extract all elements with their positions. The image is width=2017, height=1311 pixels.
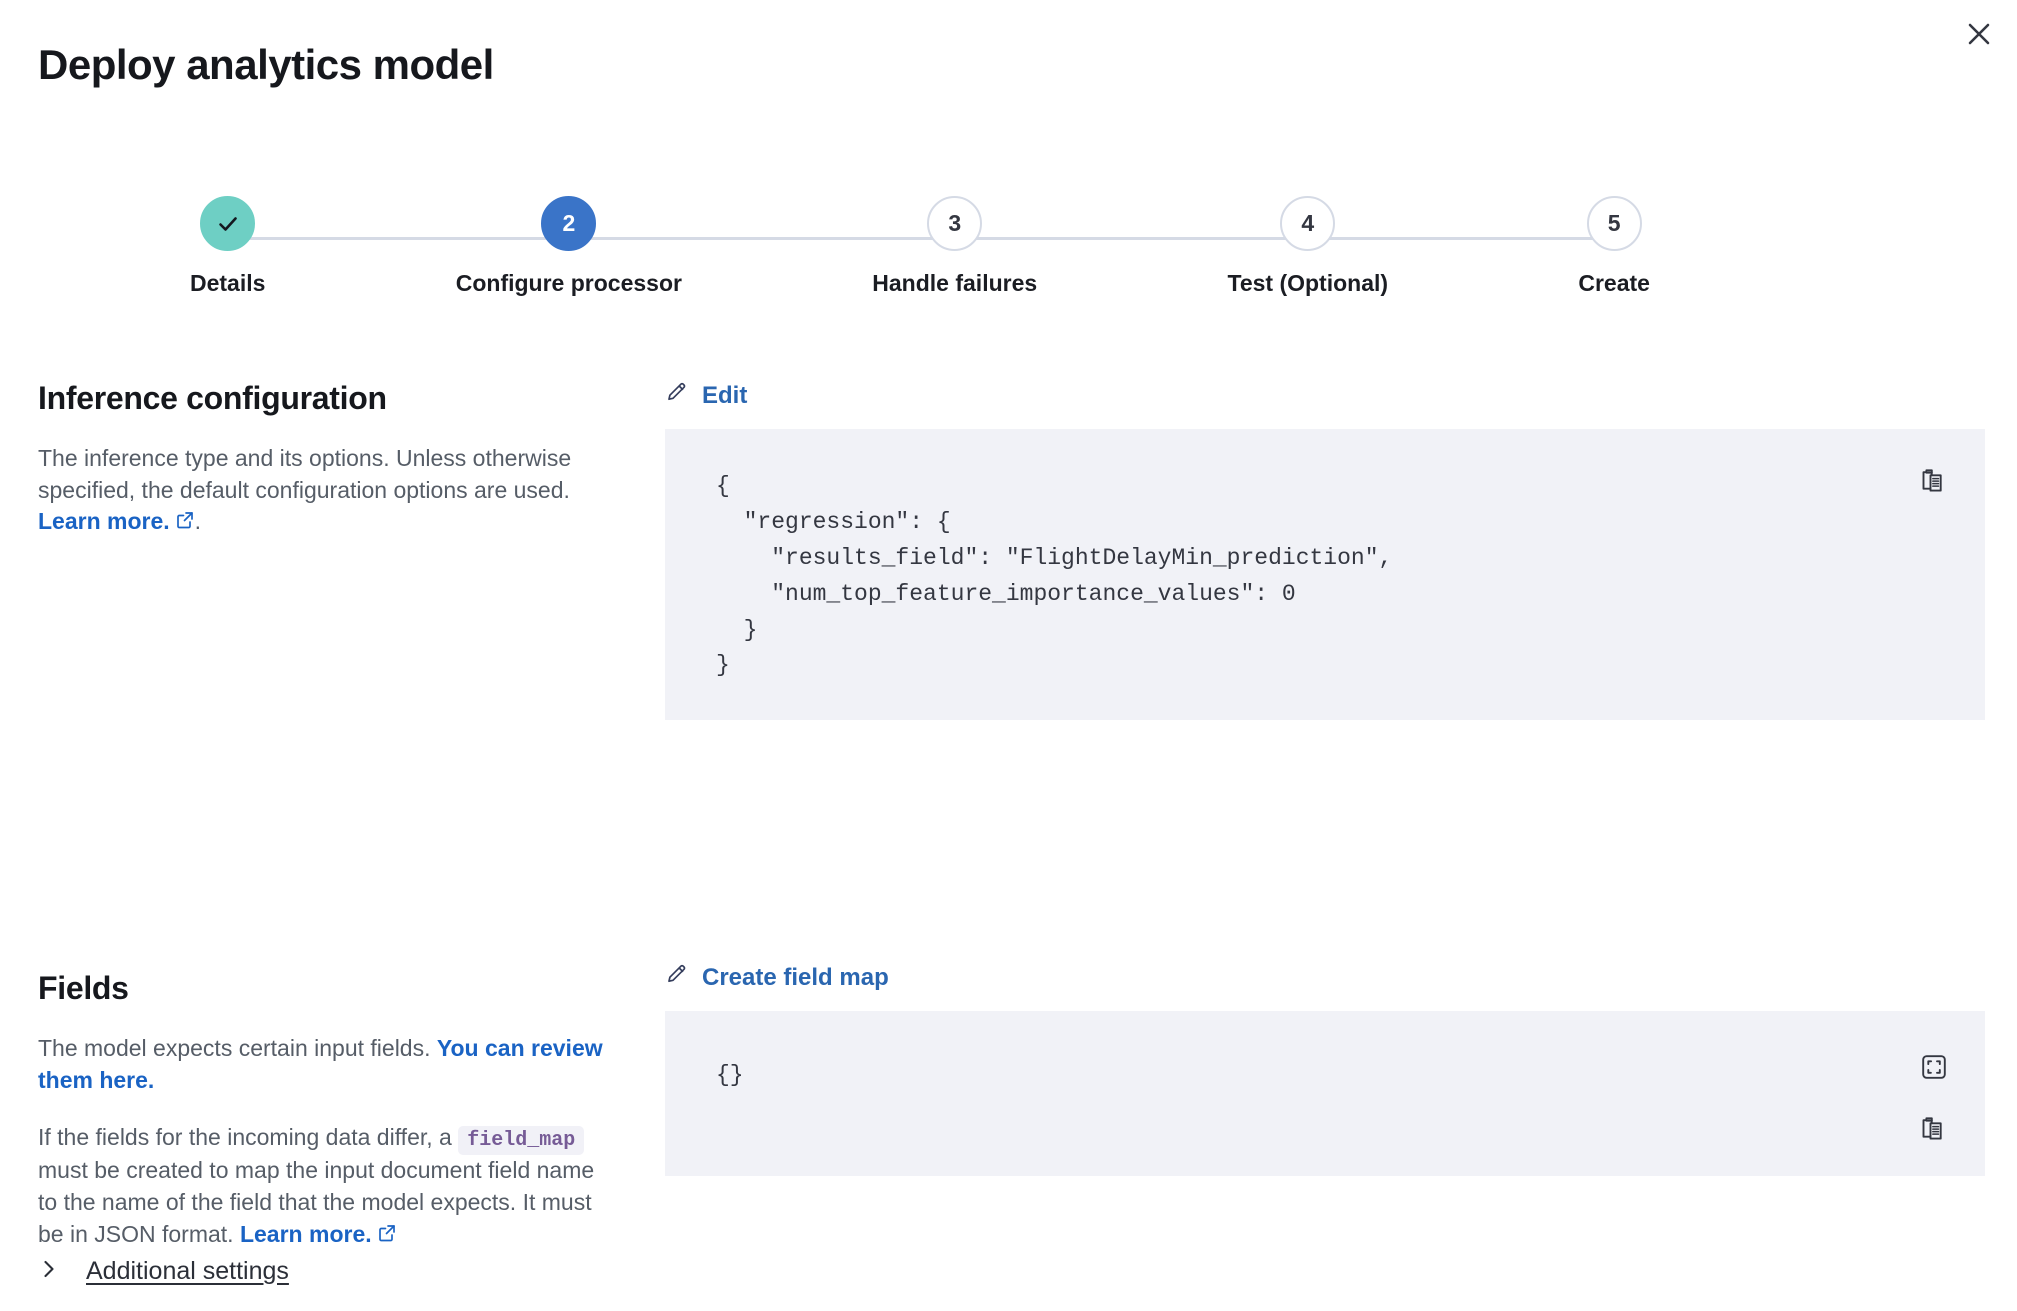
fields-editor-column: Create field map {} [665, 962, 1985, 1176]
step-handle-failures[interactable]: 3 Handle failures [872, 196, 1037, 297]
inference-code-tools [1917, 465, 1951, 499]
edit-inference-config-label: Edit [702, 382, 747, 410]
step-test-optional[interactable]: 4 Test (Optional) [1227, 196, 1388, 297]
field-map-code-token: field_map [458, 1126, 584, 1155]
copy-icon [1919, 466, 1949, 499]
copy-fields-code-button[interactable] [1917, 1113, 1951, 1147]
inference-code-block[interactable]: { "regression": { "results_field": "Flig… [665, 429, 1985, 720]
section-inference-configuration: Inference configuration The inference ty… [0, 380, 2017, 740]
fields-code-tools [1917, 1051, 1951, 1147]
inference-description: The inference type and its options. Unle… [38, 443, 618, 539]
fullscreen-icon [1919, 1052, 1949, 1085]
fields-code-text: {} [665, 1058, 1985, 1094]
inference-heading: Inference configuration [38, 380, 618, 417]
fields-desc1-text: The model expects certain input fields. [38, 1035, 437, 1061]
step-details[interactable]: Details [190, 196, 265, 297]
inference-desc-tail: . [195, 508, 201, 534]
step-circle-2: 2 [541, 196, 596, 251]
inference-desc-text: The inference type and its options. Unle… [38, 445, 571, 503]
step-circle-4: 4 [1280, 196, 1335, 251]
inference-editor-column: Edit { "regression": { "results_field": … [665, 380, 1985, 720]
step-label-4: Test (Optional) [1227, 270, 1388, 297]
close-button[interactable] [1957, 12, 2001, 56]
additional-settings-label: Additional settings [86, 1257, 289, 1286]
check-icon [215, 211, 241, 237]
step-label-1: Details [190, 270, 265, 297]
step-label-3: Handle failures [872, 270, 1037, 297]
inference-code-text: { "regression": { "results_field": "Flig… [665, 469, 1985, 684]
copy-inference-code-button[interactable] [1917, 465, 1951, 499]
fields-description-2: If the fields for the incoming data diff… [38, 1122, 618, 1251]
step-create[interactable]: 5 Create [1578, 196, 1650, 297]
step-label-2: Configure processor [456, 270, 682, 297]
stepper: Details 2 Configure processor 3 Handle f… [38, 196, 1788, 306]
inference-description-column: Inference configuration The inference ty… [38, 380, 618, 539]
step-label-5: Create [1578, 270, 1650, 297]
create-field-map-button[interactable]: Create field map [665, 962, 889, 993]
copy-icon [1919, 1114, 1949, 1147]
chevron-right-icon [38, 1258, 60, 1285]
fields-description-column: Fields The model expects certain input f… [38, 970, 618, 1251]
step-circle-3: 3 [927, 196, 982, 251]
expand-fields-code-button[interactable] [1917, 1051, 1951, 1085]
fields-learn-more-link[interactable]: Learn more. [240, 1221, 397, 1247]
inference-learn-more-link[interactable]: Learn more. [38, 508, 195, 534]
fields-desc2-text-a: If the fields for the incoming data diff… [38, 1124, 458, 1150]
close-icon [1966, 21, 1992, 47]
pencil-icon [665, 380, 689, 411]
external-link-icon [175, 507, 195, 539]
page-title: Deploy analytics model [38, 42, 494, 88]
step-circle-5: 5 [1587, 196, 1642, 251]
section-fields: Fields The model expects certain input f… [0, 740, 2017, 1170]
step-circle-1 [200, 196, 255, 251]
edit-inference-config-button[interactable]: Edit [665, 380, 747, 411]
step-configure-processor[interactable]: 2 Configure processor [456, 196, 682, 297]
inference-learn-more-label: Learn more. [38, 508, 170, 534]
form-content: Inference configuration The inference ty… [0, 380, 2017, 1170]
fields-learn-more-label: Learn more. [240, 1221, 372, 1247]
external-link-icon [377, 1220, 397, 1252]
additional-settings-toggle[interactable]: Additional settings [38, 1257, 289, 1286]
create-field-map-label: Create field map [702, 964, 889, 992]
fields-code-block[interactable]: {} [665, 1011, 1985, 1176]
fields-heading: Fields [38, 970, 618, 1007]
fields-description-1: The model expects certain input fields. … [38, 1033, 618, 1096]
pencil-icon [665, 962, 689, 993]
